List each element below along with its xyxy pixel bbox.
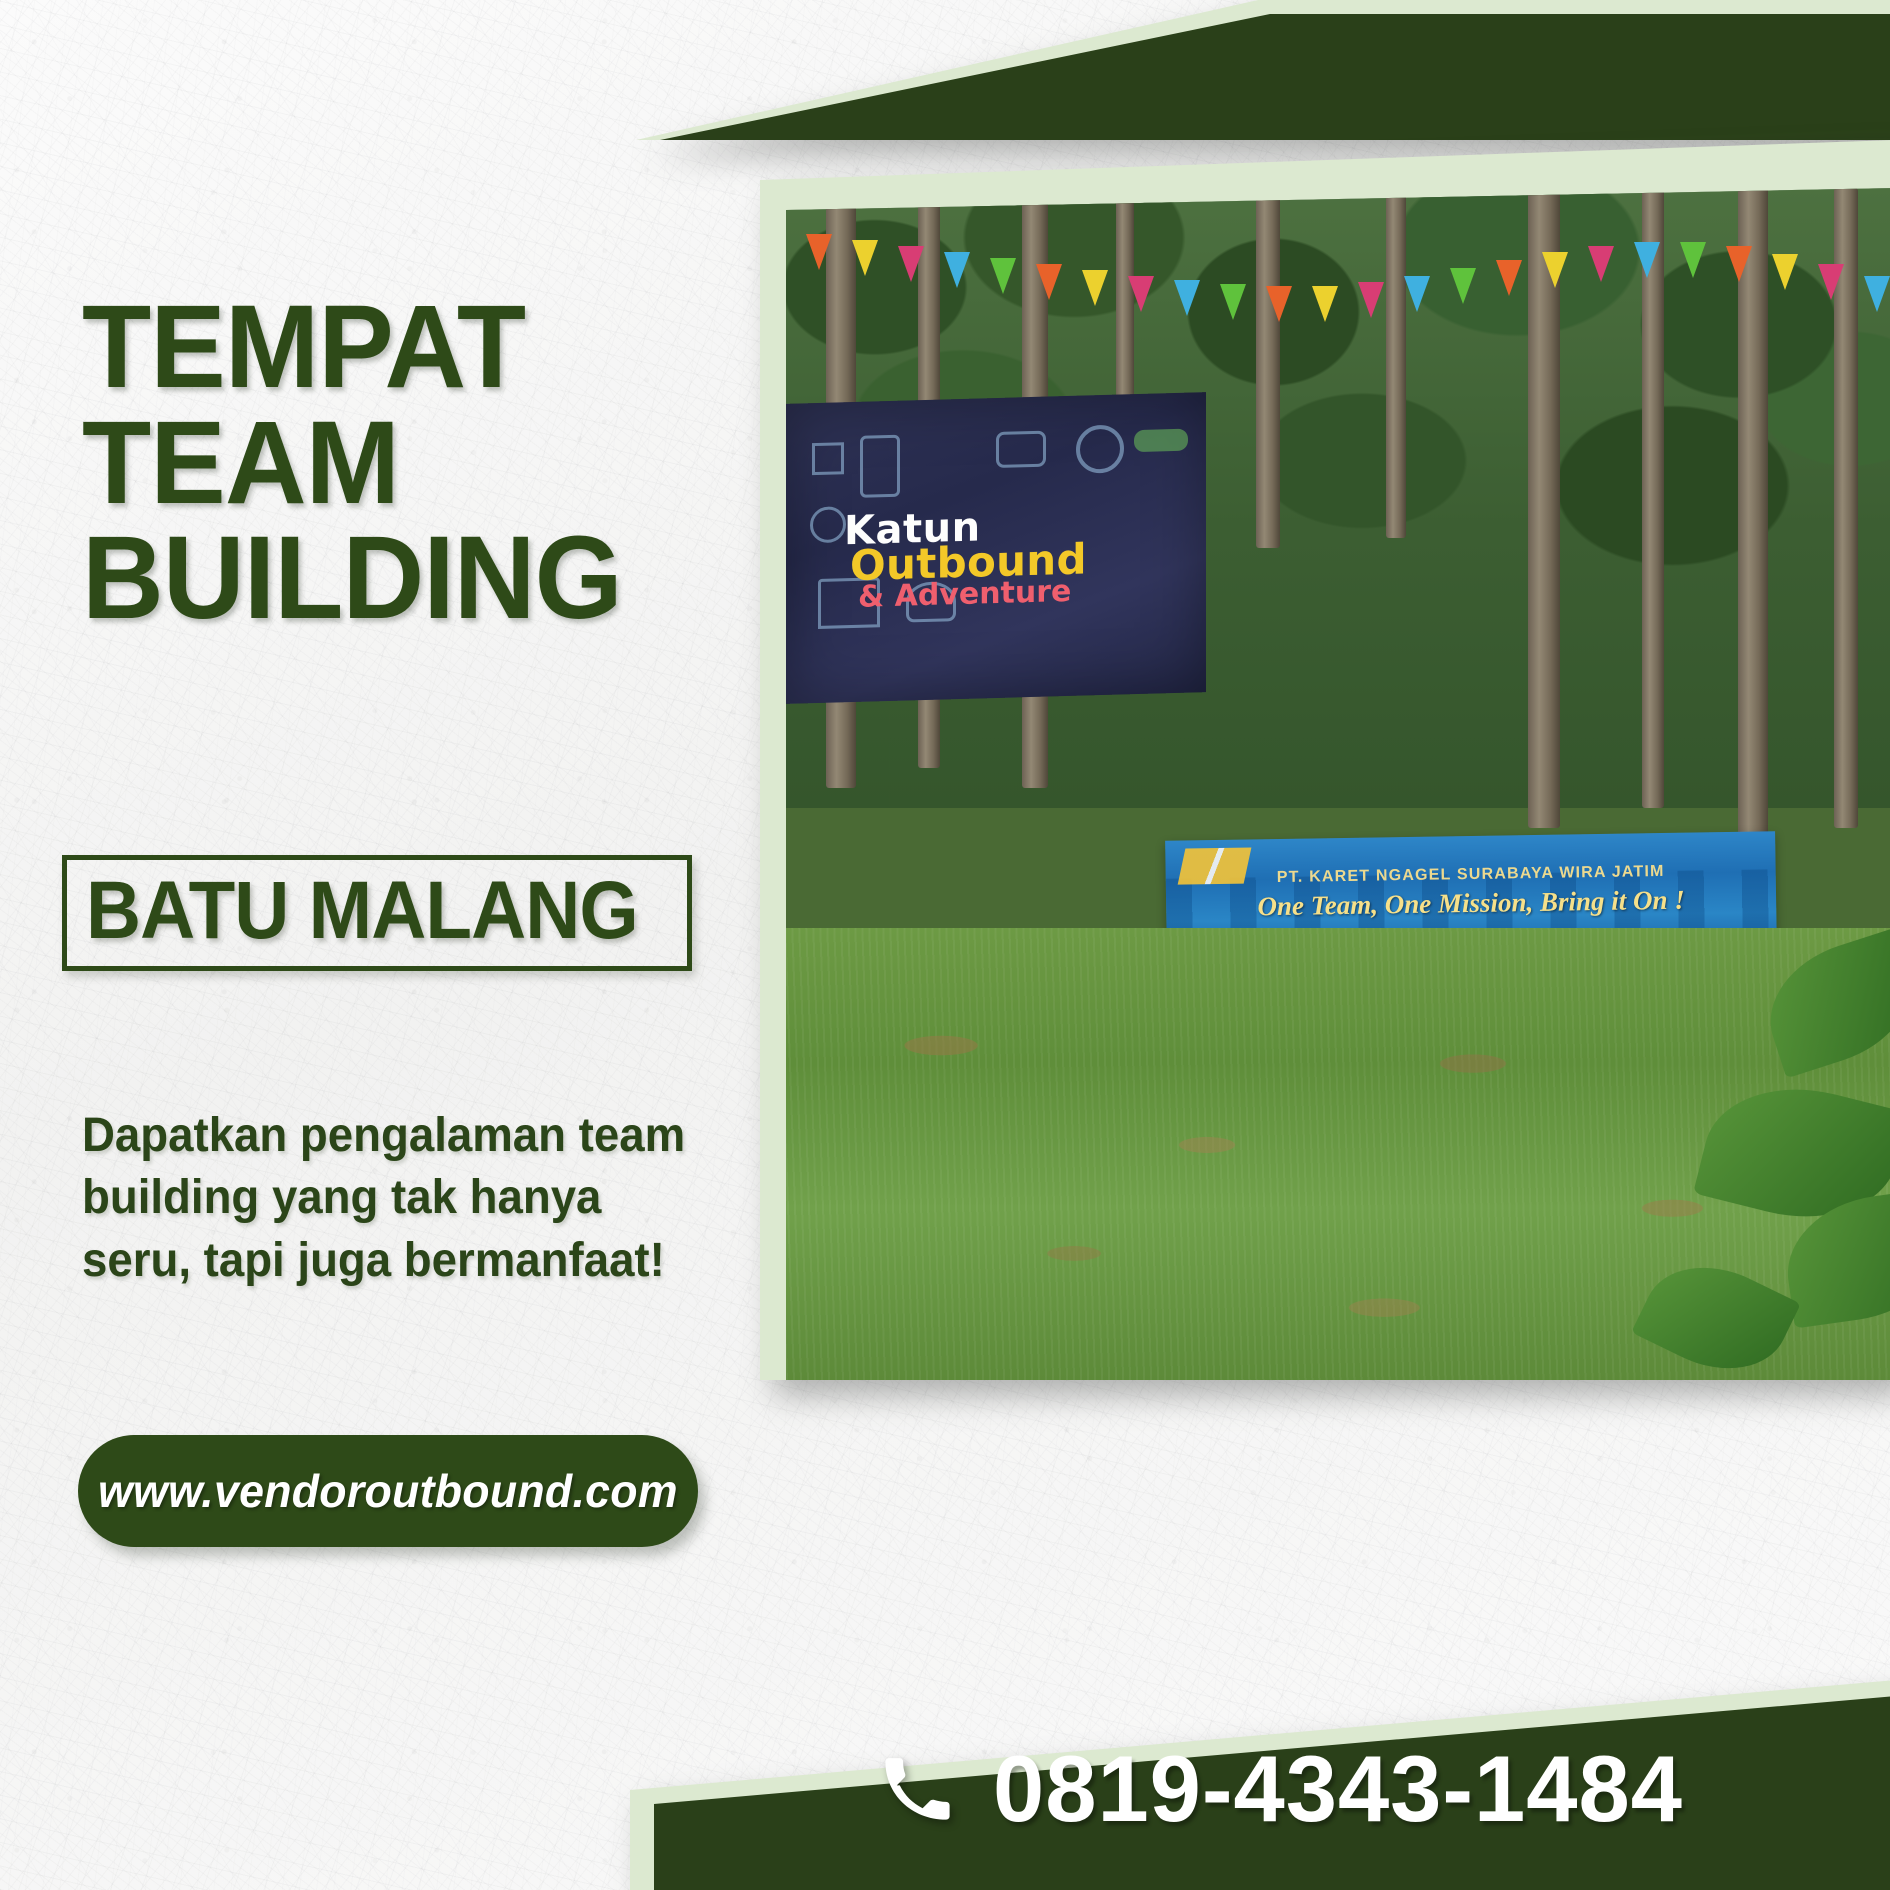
tree-trunk [1642,188,1664,808]
body-description: Dapatkan pengalaman team building yang t… [82,1105,709,1292]
team-photo: Katun Outbound & Adventure [786,188,1890,1380]
website-button[interactable]: www.vendoroutbound.com [78,1435,698,1547]
body-line-2: building yang tak hanya [82,1167,709,1229]
phone-handset-icon [880,1753,952,1825]
top-panel-green-fill [594,0,1890,140]
event-backdrop-banner: Katun Outbound & Adventure [786,392,1206,704]
website-url-label: www.vendoroutbound.com [98,1464,678,1518]
poster-canvas: Katun Outbound & Adventure [0,0,1890,1890]
subtitle-location: BATU MALANG [86,870,737,952]
top-green-banner-panel [594,0,1890,140]
page-title: TEMPAT TEAM BUILDING [82,290,696,637]
body-line-3: seru, tapi juga bermanfaat! [82,1230,709,1292]
headline-line-2: TEAM [82,406,696,522]
phone-number-label: 0819-4343-1484 [993,1742,1683,1836]
headline-line-1: TEMPAT [82,290,696,406]
body-line-1: Dapatkan pengalaman team [82,1105,709,1167]
headline-line-3: BUILDING [82,521,696,637]
photo-panel: Katun Outbound & Adventure [760,140,1890,1380]
tree-trunk [1256,188,1280,548]
backdrop-logo: Katun Outbound & Adventure [844,506,1144,611]
tree-trunk [1386,188,1406,538]
contact-phone-row[interactable]: 0819-4343-1484 [880,1742,1690,1836]
backdrop-logo-line3: & Adventure [858,576,1144,610]
tree-trunk [1738,188,1768,848]
